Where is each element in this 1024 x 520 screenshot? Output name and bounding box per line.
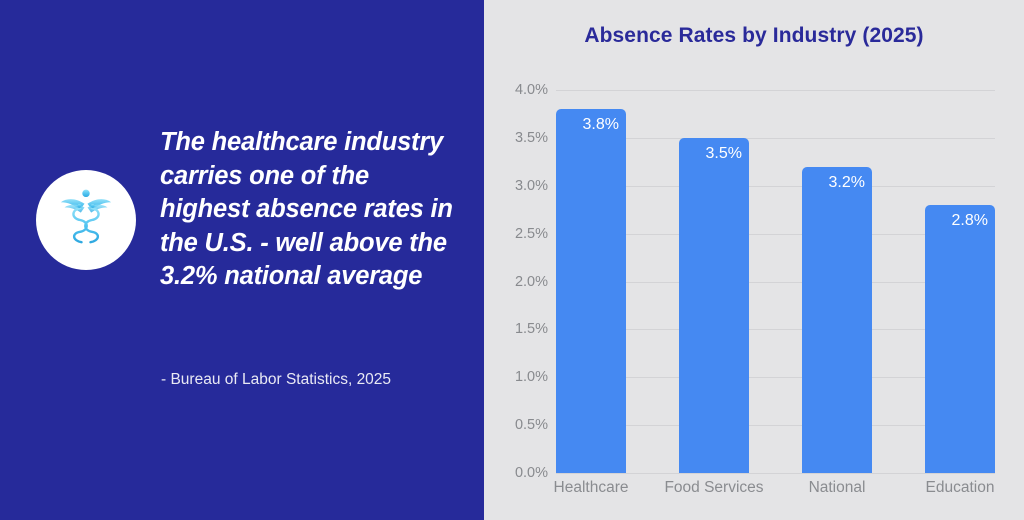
bar[interactable]: 3.5% [679, 138, 749, 473]
x-axis-tick-label: Food Services [644, 479, 784, 497]
plot-area: 0.0%0.5%1.0%1.5%2.0%2.5%3.0%3.5%4.0% 3.8… [556, 90, 995, 473]
caduceus-badge [36, 170, 136, 270]
quote-attribution: - Bureau of Labor Statistics, 2025 [161, 370, 391, 390]
gridline: 0.0% [556, 473, 995, 474]
bar-group[interactable]: 3.2%National [802, 90, 872, 473]
bar[interactable]: 3.8% [556, 109, 626, 473]
quote-text: The healthcare industry carries one of t… [160, 126, 460, 294]
bar[interactable]: 3.2% [802, 167, 872, 473]
bar[interactable]: 2.8% [925, 205, 995, 473]
y-axis-tick-label: 2.0% [515, 274, 548, 290]
x-axis-tick-label: National [767, 479, 907, 497]
bar-group[interactable]: 2.8%Education [925, 90, 995, 473]
bar-value-label: 3.5% [706, 145, 742, 163]
y-axis-tick-label: 0.5% [515, 417, 548, 433]
bar-group[interactable]: 3.5%Food Services [679, 90, 749, 473]
bar-group[interactable]: 3.8%Healthcare [556, 90, 626, 473]
bar-value-label: 2.8% [952, 212, 988, 230]
y-axis-tick-label: 1.0% [515, 369, 548, 385]
y-axis-tick-label: 3.5% [515, 130, 548, 146]
caduceus-icon [49, 183, 123, 257]
bar-value-label: 3.8% [583, 116, 619, 134]
bar-series: 3.8%Healthcare3.5%Food Services3.2%Natio… [556, 90, 995, 473]
x-axis-tick-label: Education [890, 479, 1024, 497]
infographic-root: The healthcare industry carries one of t… [0, 0, 1024, 520]
y-axis-tick-label: 3.0% [515, 178, 548, 194]
chart-title: Absence Rates by Industry (2025) [484, 24, 1024, 48]
x-axis-tick-label: Healthcare [521, 479, 661, 497]
y-axis-tick-label: 2.5% [515, 226, 548, 242]
bar-value-label: 3.2% [829, 174, 865, 192]
chart-panel: Absence Rates by Industry (2025) 0.0%0.5… [484, 0, 1024, 520]
y-axis-tick-label: 4.0% [515, 82, 548, 98]
y-axis-tick-label: 1.5% [515, 321, 548, 337]
quote-panel: The healthcare industry carries one of t… [0, 0, 484, 520]
